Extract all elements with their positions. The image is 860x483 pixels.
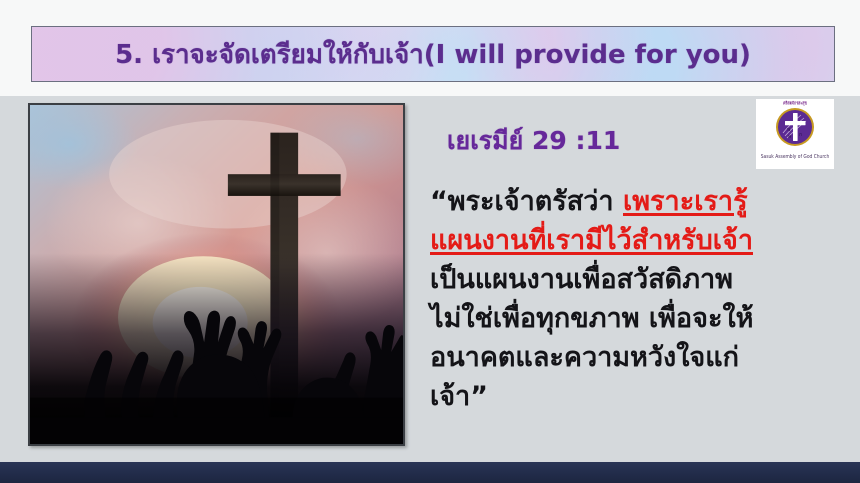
- photo-artwork: [30, 105, 403, 444]
- quote-line-2: แผนงานที่เรามีไว้สำหรับเจ้า: [430, 221, 842, 260]
- scripture-quote: “พระเจ้าตรัสว่า เพราะเรารู้ แผนงานที่เรา…: [430, 182, 842, 416]
- quote-segment-highlight: แผนงานที่เรามีไว้สำหรับเจ้า: [430, 225, 753, 256]
- slide-canvas: 5. เราจะจัดเตรียมให้กับเจ้า(I will provi…: [0, 0, 860, 483]
- slide-title-banner: 5. เราจะจัดเตรียมให้กับเจ้า(I will provi…: [31, 26, 835, 82]
- slide-title: 5. เราจะจัดเตรียมให้กับเจ้า(I will provi…: [115, 34, 751, 75]
- quote-line-5: อนาคตและความหวังใจแก่: [430, 338, 842, 377]
- quote-segment-plain: “พระเจ้าตรัสว่า: [430, 186, 623, 217]
- logo-bottom-caption: Sasuk Assembly of God Church: [756, 155, 834, 161]
- quote-line-6: เจ้า”: [430, 377, 842, 416]
- logo-cross-emblem: พ ก ค: [775, 107, 815, 147]
- cross-worship-photo: [28, 103, 405, 446]
- church-logo: คริสตจักรสะสุข พ ก ค Sasuk Assembly of G…: [756, 99, 834, 169]
- quote-line-1: “พระเจ้าตรัสว่า เพราะเรารู้: [430, 182, 842, 221]
- svg-text:ค: ค: [788, 134, 791, 140]
- svg-text:ก: ก: [799, 132, 802, 138]
- svg-text:พ: พ: [787, 127, 790, 133]
- slide-footer-bar: [0, 462, 860, 483]
- quote-segment-highlight: เพราะเรารู้: [623, 186, 748, 217]
- logo-top-caption: คริสตจักรสะสุข: [756, 99, 834, 107]
- scripture-reference: เยเรมีย์ 29 :11: [447, 121, 620, 161]
- quote-line-3: เป็นแผนงานเพื่อสวัสดิภาพ: [430, 260, 842, 299]
- quote-line-4: ไม่ใช่เพื่อทุกขภาพ เพื่อจะให้: [430, 299, 842, 338]
